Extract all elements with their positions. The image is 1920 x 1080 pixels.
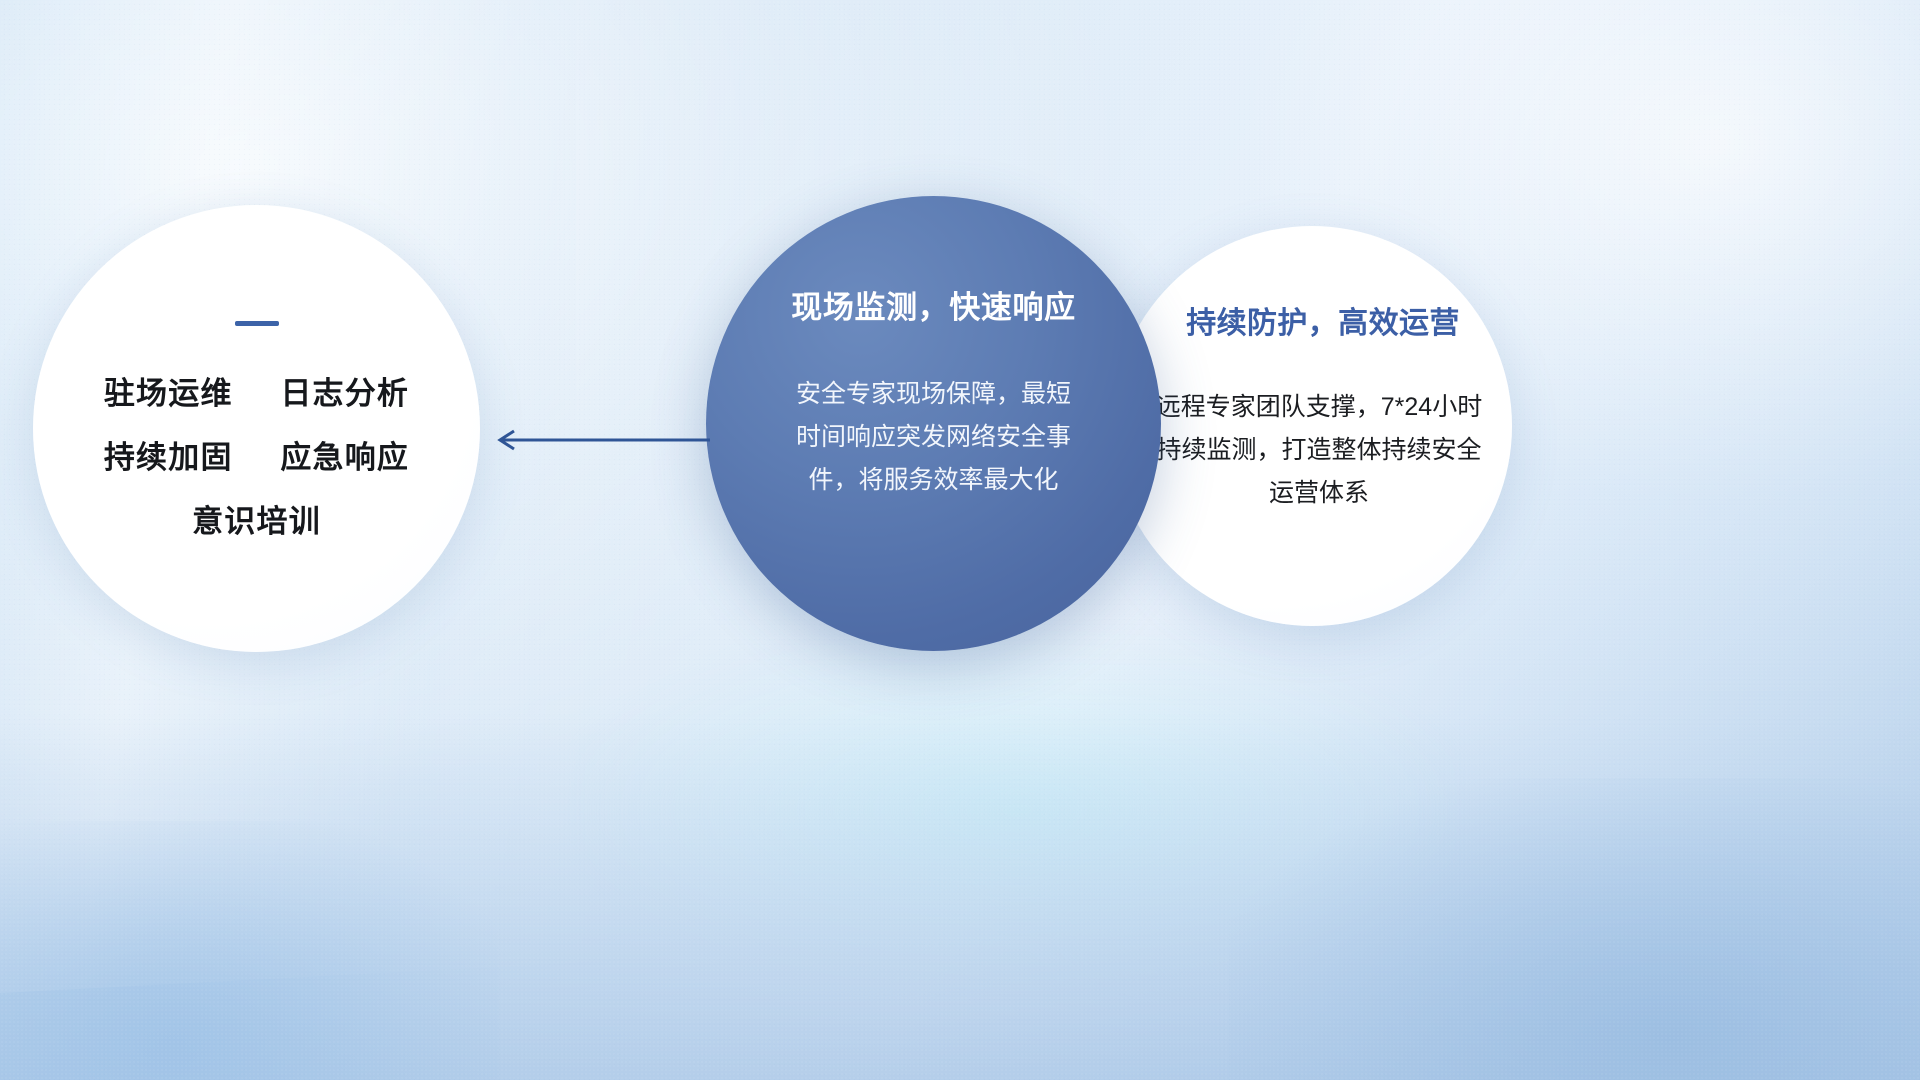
capability-line-1: 驻场运维 日志分析 xyxy=(104,378,409,409)
capability-item-continuous-hardening: 持续加固 xyxy=(104,440,233,475)
service-circle-remote[interactable]: 持续防护，高效运营 远程专家团队支撑，7*24小时持续监测，打造整体持续安全运营… xyxy=(1112,226,1512,626)
service-circle-onsite-title: 现场监测，快速响应 xyxy=(791,282,1075,327)
capability-circle-left[interactable]: 驻场运维 日志分析 持续加固 应急响应 意识培训 xyxy=(33,205,480,652)
service-circle-remote-title: 持续防护，高效运营 xyxy=(1186,298,1460,342)
service-circle-remote-body: 远程专家团队支撑，7*24小时持续监测，打造整体持续安全运营体系 xyxy=(1150,386,1488,515)
capability-item-emergency-response: 应急响应 xyxy=(280,440,409,475)
capability-item-awareness-training: 意识培训 xyxy=(192,504,321,539)
divider-dash-icon xyxy=(235,321,279,326)
capability-item-log-analysis: 日志分析 xyxy=(280,376,409,411)
capability-line-2: 持续加固 应急响应 xyxy=(104,442,409,473)
capability-item-onsite-ops: 驻场运维 xyxy=(104,376,233,411)
capability-line-3: 意识培训 xyxy=(192,506,321,537)
service-circle-onsite[interactable]: 现场监测，快速响应 安全专家现场保障，最短时间响应突发网络安全事件，将服务效率最… xyxy=(706,196,1161,651)
arrow-left-icon xyxy=(490,424,712,456)
service-circle-onsite-body: 安全专家现场保障，最短时间响应突发网络安全事件，将服务效率最大化 xyxy=(795,373,1073,502)
flow-arrow-left xyxy=(490,424,712,456)
